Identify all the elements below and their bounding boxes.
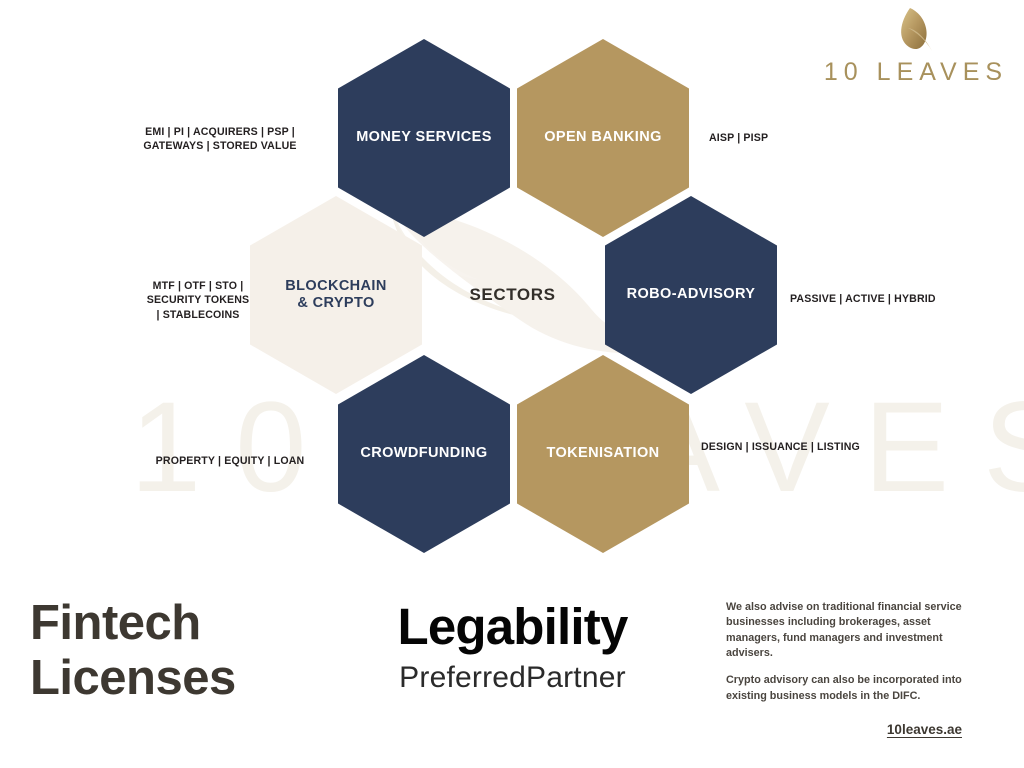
partner-brand: Legability PreferredPartner [340, 600, 685, 697]
caption-tokenisation: DESIGN | ISSUANCE | LISTING [701, 440, 901, 454]
caption-blockchain-line1: MTF | OTF | STO | [153, 280, 244, 292]
caption-robo-advisory: PASSIVE | ACTIVE | HYBRID [790, 292, 990, 306]
page-title-line1: Fintech [30, 596, 201, 650]
website-link[interactable]: 10leaves.ae [887, 722, 962, 737]
hexagon-crowdfunding[interactable]: CROWDFUNDING [338, 355, 510, 553]
caption-open-banking: AISP | PISP [709, 131, 889, 145]
hexagon-open-banking[interactable]: OPEN BANKING [517, 39, 689, 237]
caption-money-line2: GATEWAYS | STORED VALUE [143, 140, 296, 152]
caption-blockchain-crypto: MTF | OTF | STO | SECURITY TOKENS | STAB… [98, 279, 298, 322]
hexagon-label-robo-advisory: ROBO-ADVISORY [621, 286, 762, 303]
hexagon-tokenisation[interactable]: TOKENISATION [517, 355, 689, 553]
partner-name: Legability [340, 600, 685, 654]
hexagon-label-crowdfunding: CROWDFUNDING [354, 445, 493, 462]
infographic-page: 10 LEAVES 10 LEAVES [0, 0, 1024, 768]
caption-blockchain-line3: | STABLECOINS [157, 309, 240, 321]
hexagon-robo-advisory[interactable]: ROBO-ADVISORY [605, 196, 777, 394]
advisory-notes: We also advise on traditional financial … [726, 600, 981, 704]
caption-blockchain-line2: SECURITY TOKENS [147, 294, 250, 306]
page-title: Fintech Licenses [30, 596, 330, 706]
center-label-sectors: SECTORS [430, 285, 595, 305]
caption-money-line1: EMI | PI | ACQUIRERS | PSP | [145, 126, 295, 138]
partner-subtitle: PreferredPartner [340, 658, 685, 697]
caption-money-services: EMI | PI | ACQUIRERS | PSP | GATEWAYS | … [110, 125, 330, 154]
page-title-line2: Licenses [30, 651, 236, 705]
hexagon-label-open-banking: OPEN BANKING [538, 129, 668, 146]
hexagon-label-blockchain-line1: BLOCKCHAIN [285, 278, 386, 294]
caption-crowdfunding: PROPERTY | EQUITY | LOAN [130, 454, 330, 468]
hexagon-label-money-services: MONEY SERVICES [350, 129, 498, 146]
hexagon-label-tokenisation: TOKENISATION [540, 445, 665, 462]
advisory-note-1: We also advise on traditional financial … [726, 600, 981, 661]
advisory-note-2: Crypto advisory can also be incorporated… [726, 673, 981, 704]
hexagon-label-blockchain-line2: & CRYPTO [297, 295, 374, 311]
hexagon-money-services[interactable]: MONEY SERVICES [338, 39, 510, 237]
